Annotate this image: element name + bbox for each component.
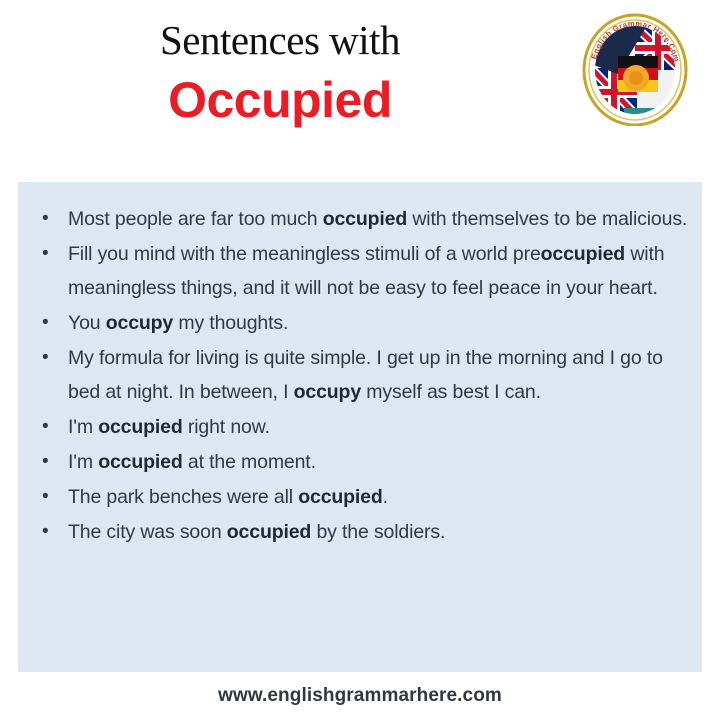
bullet-dot-icon: • bbox=[42, 341, 49, 375]
keyword-highlight: occupied bbox=[98, 451, 182, 473]
keyword-highlight: occupied bbox=[298, 486, 382, 508]
list-item: •Most people are far too much occupied w… bbox=[28, 202, 688, 236]
sentence-list: •Most people are far too much occupied w… bbox=[28, 202, 688, 549]
sentence-text: My formula for living is quite simple. I… bbox=[68, 347, 663, 403]
page-title-keyword: Occupied bbox=[0, 70, 560, 130]
list-item: •The city was soon occupied by the soldi… bbox=[28, 515, 688, 549]
list-item: •My formula for living is quite simple. … bbox=[28, 341, 688, 409]
sentence-text: Most people are far too much occupied wi… bbox=[68, 208, 687, 230]
keyword-highlight: occupy bbox=[106, 312, 173, 334]
bullet-dot-icon: • bbox=[42, 202, 49, 236]
sentences-panel: •Most people are far too much occupied w… bbox=[18, 182, 702, 672]
keyword-highlight: occupied bbox=[323, 208, 407, 230]
sentence-text: I'm occupied right now. bbox=[68, 416, 270, 438]
sentence-text: Fill you mind with the meaningless stimu… bbox=[68, 243, 664, 299]
keyword-highlight: occupied bbox=[98, 416, 182, 438]
keyword-highlight: occupied bbox=[227, 521, 311, 543]
bullet-dot-icon: • bbox=[42, 445, 49, 479]
keyword-highlight: occupy bbox=[294, 381, 361, 403]
bullet-dot-icon: • bbox=[42, 410, 49, 444]
site-url[interactable]: www.englishgrammarhere.com bbox=[218, 685, 502, 706]
sentence-text: I'm occupied at the moment. bbox=[68, 451, 316, 473]
bullet-dot-icon: • bbox=[42, 515, 49, 549]
bullet-dot-icon: • bbox=[42, 480, 49, 514]
badge-icon: English Grammar Here.Com bbox=[578, 12, 692, 126]
keyword-highlight: occupied bbox=[541, 243, 625, 265]
infographic-page: Sentences with Occupied bbox=[0, 0, 720, 720]
sentence-text: The park benches were all occupied. bbox=[68, 486, 388, 508]
bullet-dot-icon: • bbox=[42, 306, 49, 340]
list-item: •I'm occupied at the moment. bbox=[28, 445, 688, 479]
list-item: •The park benches were all occupied. bbox=[28, 480, 688, 514]
list-item: •You occupy my thoughts. bbox=[28, 306, 688, 340]
sentence-text: The city was soon occupied by the soldie… bbox=[68, 521, 445, 543]
site-logo-badge[interactable]: English Grammar Here.Com bbox=[578, 12, 692, 126]
list-item: •Fill you mind with the meaningless stim… bbox=[28, 237, 688, 305]
header: Sentences with Occupied bbox=[0, 0, 720, 178]
sentence-text: You occupy my thoughts. bbox=[68, 312, 288, 334]
bullet-dot-icon: • bbox=[42, 237, 49, 271]
title-block: Sentences with Occupied bbox=[0, 14, 560, 130]
list-item: •I'm occupied right now. bbox=[28, 410, 688, 444]
page-title-prefix: Sentences with bbox=[0, 14, 560, 66]
footer: www.englishgrammarhere.com bbox=[0, 672, 720, 720]
